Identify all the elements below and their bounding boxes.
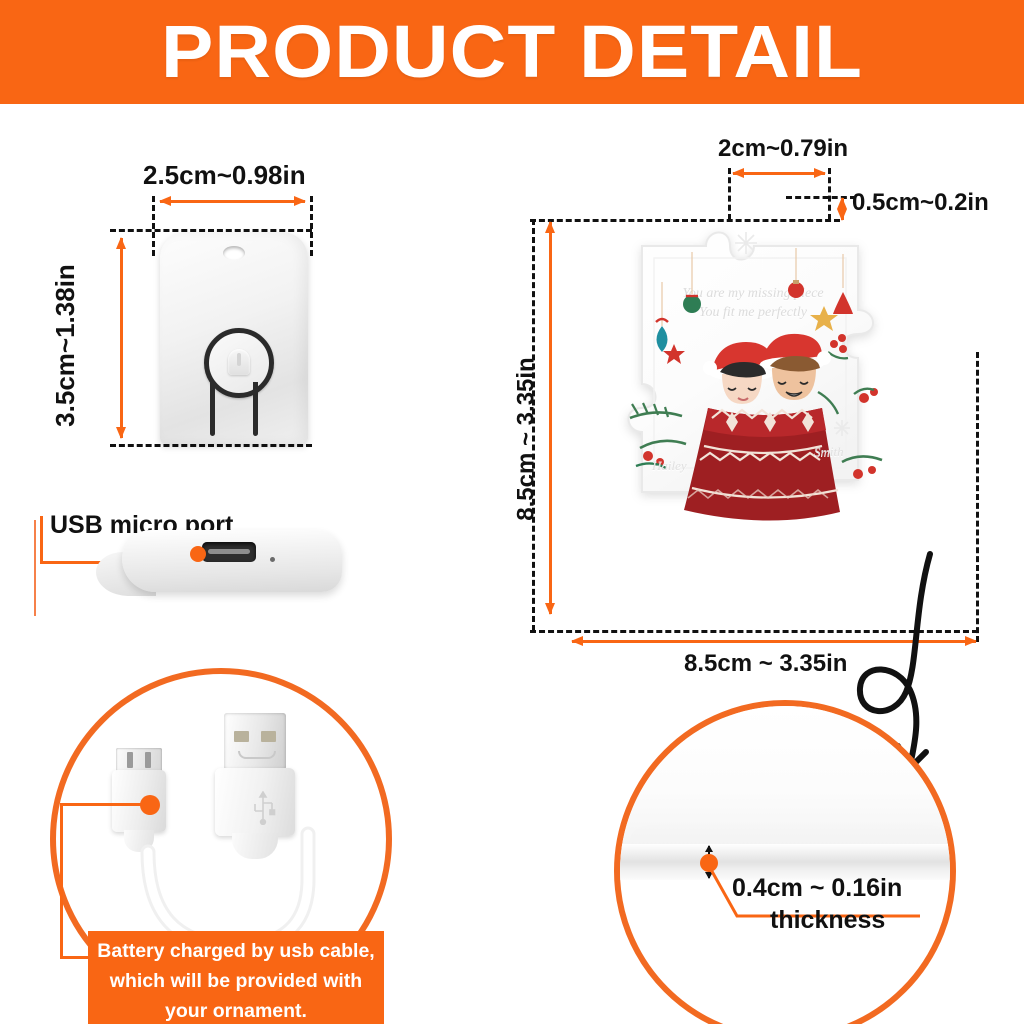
base-ext-line-right bbox=[310, 196, 313, 256]
cable-leader-horizontal-top bbox=[60, 803, 148, 806]
ornament-top-width-label: 2cm~0.79in bbox=[718, 135, 848, 163]
hanging-hole bbox=[223, 246, 245, 260]
pinhole-icon bbox=[270, 557, 275, 562]
thickness-leader-path bbox=[620, 706, 950, 1024]
base-width-arrow bbox=[160, 200, 305, 203]
face-left bbox=[720, 362, 766, 404]
usb-callout-dot-marker bbox=[190, 546, 206, 562]
cable-note-box: Battery charged by usb cable, which will… bbox=[88, 931, 384, 1024]
thickness-caption-label: thickness bbox=[770, 906, 885, 935]
header-banner: PRODUCT DETAIL bbox=[0, 0, 1024, 104]
thickness-value-label: 0.4cm ~ 0.16in bbox=[732, 874, 902, 903]
power-glyph-stem bbox=[237, 353, 241, 366]
ornament-width-label: 8.5cm ~ 3.35in bbox=[684, 650, 847, 678]
base-height-label: 3.5cm~1.38in bbox=[50, 264, 81, 427]
page-title: PRODUCT DETAIL bbox=[0, 0, 1024, 104]
usb-slot-inner bbox=[208, 549, 250, 554]
led-base-unit bbox=[160, 232, 308, 444]
base-ext-line-left bbox=[152, 196, 155, 256]
ornament-preview: You are my missing piece You fit me perf… bbox=[596, 222, 904, 538]
ornament-top-width-arrow bbox=[733, 172, 825, 175]
ornament-name-right: Smith bbox=[814, 444, 844, 460]
couple-artwork bbox=[596, 222, 904, 538]
base-ext-line-bottom bbox=[110, 444, 312, 447]
cable-leader-vertical bbox=[60, 803, 63, 959]
face-right bbox=[770, 356, 820, 400]
ornament-top-ext-left bbox=[728, 168, 731, 220]
power-prong-left bbox=[210, 382, 215, 436]
nordic-blanket bbox=[684, 408, 840, 521]
cable-note-line-1: Battery charged by usb cable, bbox=[88, 936, 384, 966]
base-width-label: 2.5cm~0.98in bbox=[143, 160, 306, 191]
ornament-height-label: 8.5cm ~ 3.35in bbox=[513, 357, 541, 520]
ornament-height-arrow bbox=[549, 222, 552, 614]
thickness-magnifier-circle: 0.4cm ~ 0.16in thickness bbox=[614, 700, 956, 1024]
cable-note-line-2: which will be provided with bbox=[88, 966, 384, 996]
ornament-top-offset-label: 0.5cm~0.2in bbox=[852, 189, 989, 217]
product-detail-infographic: PRODUCT DETAIL 2.5cm~0.98in 3.5cm~1.38in bbox=[0, 0, 1024, 1024]
power-glyph bbox=[228, 349, 250, 375]
power-prong-right bbox=[253, 382, 258, 436]
ornament-offset-arrow bbox=[841, 198, 844, 220]
base-height-arrow bbox=[120, 238, 123, 438]
usb-micro-slot bbox=[202, 542, 256, 562]
left-margin-rule bbox=[34, 520, 36, 616]
cable-note-line-3: your ornament. bbox=[88, 996, 384, 1024]
usb-callout-leader-vertical bbox=[40, 516, 43, 564]
ornament-name-left: Hailey bbox=[652, 458, 687, 474]
ornament-top-ext-right bbox=[828, 168, 831, 220]
